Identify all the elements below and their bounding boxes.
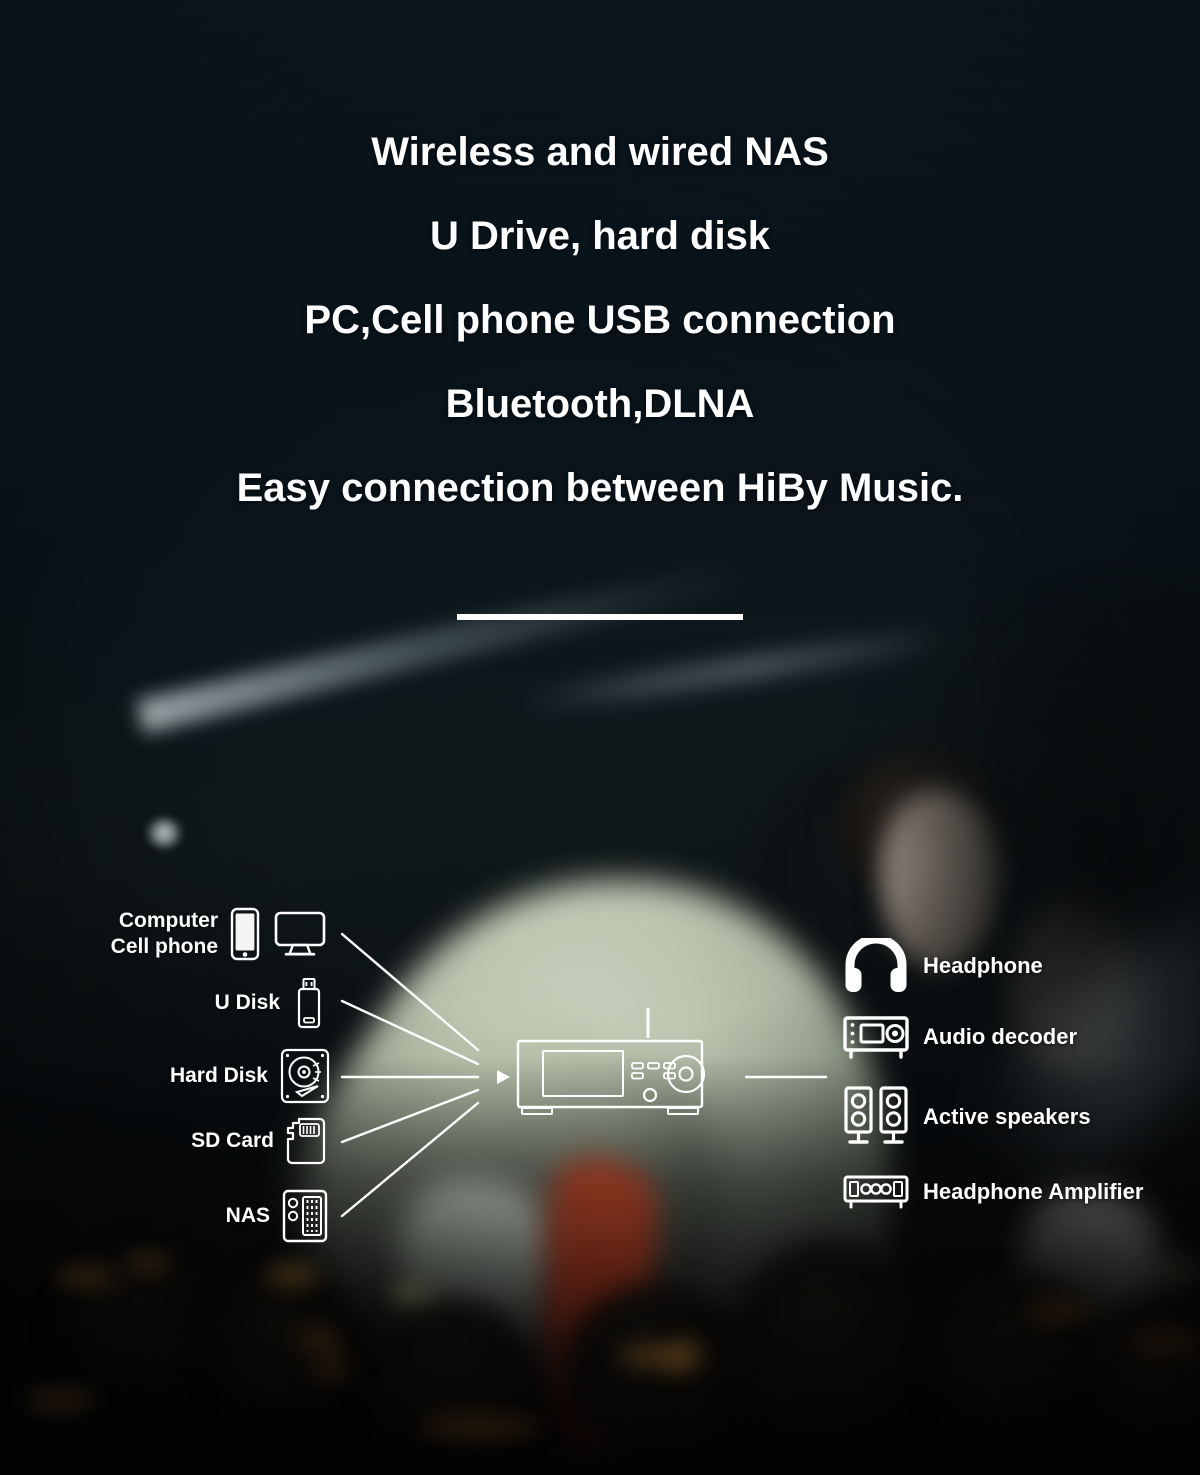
sd-card-icon bbox=[286, 1117, 326, 1165]
smartphone-icon bbox=[230, 907, 260, 961]
connector-line-nas bbox=[342, 1103, 478, 1216]
hifi-player-icon bbox=[518, 1008, 704, 1114]
source-label-nas: NAS bbox=[226, 1203, 270, 1229]
connection-diagram bbox=[0, 0, 1200, 1475]
source-label-computer-cellphone: Computer Cell phone bbox=[111, 908, 218, 960]
source-label-line-1: Computer bbox=[111, 908, 218, 934]
source-label-udisk: U Disk bbox=[215, 990, 280, 1016]
hard-disk-icon bbox=[280, 1048, 330, 1104]
output-row-active-speakers[interactable]: Active speakers bbox=[843, 1085, 1091, 1149]
source-icons-computer-cellphone bbox=[230, 907, 326, 961]
source-label-line-2: Cell phone bbox=[111, 934, 218, 960]
output-label-audio-decoder: Audio decoder bbox=[923, 1024, 1077, 1050]
headphone-icon bbox=[843, 938, 909, 994]
output-row-headphone[interactable]: Headphone bbox=[843, 938, 1043, 994]
output-row-headphone-amplifier[interactable]: Headphone Amplifier bbox=[843, 1172, 1143, 1212]
source-row-harddisk[interactable]: Hard Disk bbox=[0, 1046, 330, 1106]
arrowhead-icon bbox=[497, 1070, 510, 1084]
source-icons-harddisk bbox=[280, 1048, 330, 1104]
source-row-sdcard[interactable]: SD Card bbox=[0, 1115, 326, 1167]
output-row-audio-decoder[interactable]: Audio decoder bbox=[843, 1014, 1077, 1060]
output-label-headphone-amplifier: Headphone Amplifier bbox=[923, 1179, 1143, 1205]
promo-page: Wireless and wired NAS U Drive, hard dis… bbox=[0, 0, 1200, 1475]
source-label-harddisk: Hard Disk bbox=[170, 1063, 268, 1089]
audio-decoder-icon bbox=[843, 1014, 909, 1060]
source-icons-nas bbox=[282, 1189, 328, 1243]
connector-lines bbox=[342, 934, 826, 1216]
monitor-icon bbox=[274, 911, 326, 957]
active-speakers-icon bbox=[843, 1085, 909, 1149]
output-label-headphone: Headphone bbox=[923, 953, 1043, 979]
source-row-nas[interactable]: NAS bbox=[0, 1188, 328, 1244]
connector-line-sdcard bbox=[342, 1090, 478, 1142]
nas-icon bbox=[282, 1189, 328, 1243]
source-icons-udisk bbox=[292, 977, 326, 1029]
output-label-active-speakers: Active speakers bbox=[923, 1104, 1091, 1130]
source-label-sdcard: SD Card bbox=[191, 1128, 274, 1154]
source-row-computer-cellphone[interactable]: Computer Cell phone bbox=[0, 902, 326, 966]
usb-flash-drive-icon bbox=[292, 977, 326, 1029]
source-icons-sdcard bbox=[286, 1117, 326, 1165]
headphone-amplifier-icon bbox=[843, 1174, 909, 1210]
source-row-udisk[interactable]: U Disk bbox=[0, 975, 326, 1031]
